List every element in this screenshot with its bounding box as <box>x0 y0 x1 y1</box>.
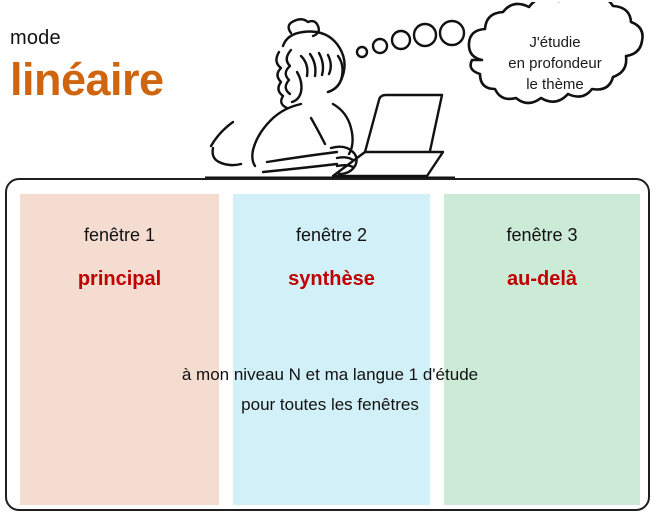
panel-3-keyword: au-delà <box>444 267 640 291</box>
bubble-line-1: J'étudie <box>470 32 640 53</box>
panel-1-keyword: principal <box>20 267 219 291</box>
panel-2-keyword: synthèse <box>233 267 430 291</box>
footer-line-1: à mon niveau N et ma langue 1 d'étude <box>20 360 640 390</box>
panel-2-heading: fenêtre 2 <box>233 224 430 246</box>
panel-3-heading: fenêtre 3 <box>444 224 640 246</box>
panel-1-heading: fenêtre 1 <box>20 224 219 246</box>
bubble-line-2: en profondeur <box>470 53 640 74</box>
footer-line-2: pour toutes les fenêtres <box>20 390 640 420</box>
bubble-line-3: le thème <box>470 74 640 95</box>
thought-trail-dots-icon <box>340 18 470 78</box>
thought-bubble-text: J'étudie en profondeur le thème <box>470 32 640 95</box>
footer-caption: à mon niveau N et ma langue 1 d'étude po… <box>20 360 640 420</box>
